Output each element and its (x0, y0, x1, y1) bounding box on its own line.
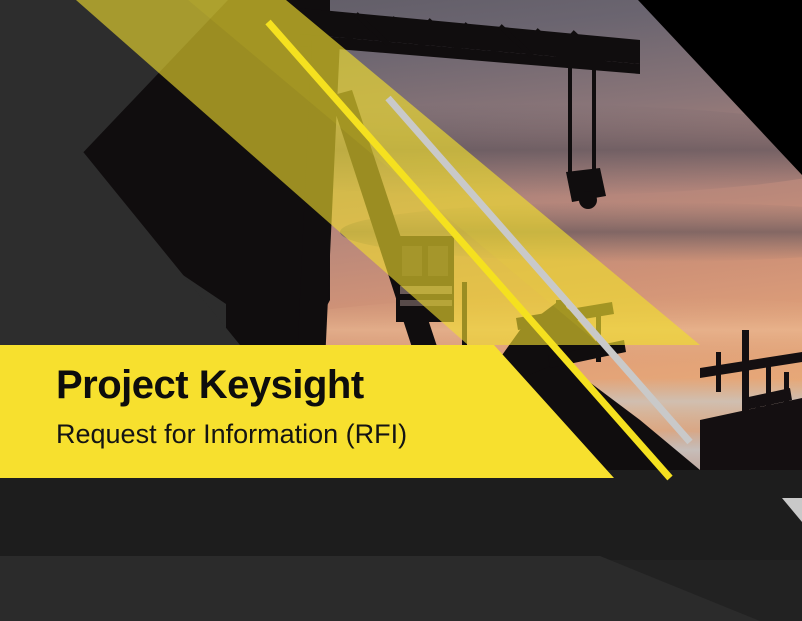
presentation-slide: Project Keysight Request for Information… (0, 0, 802, 621)
dark-slant-left-fill (0, 148, 240, 345)
gray-accent-tip (782, 498, 802, 522)
geometric-overlays (0, 0, 802, 621)
yellow-title-band (0, 345, 614, 478)
